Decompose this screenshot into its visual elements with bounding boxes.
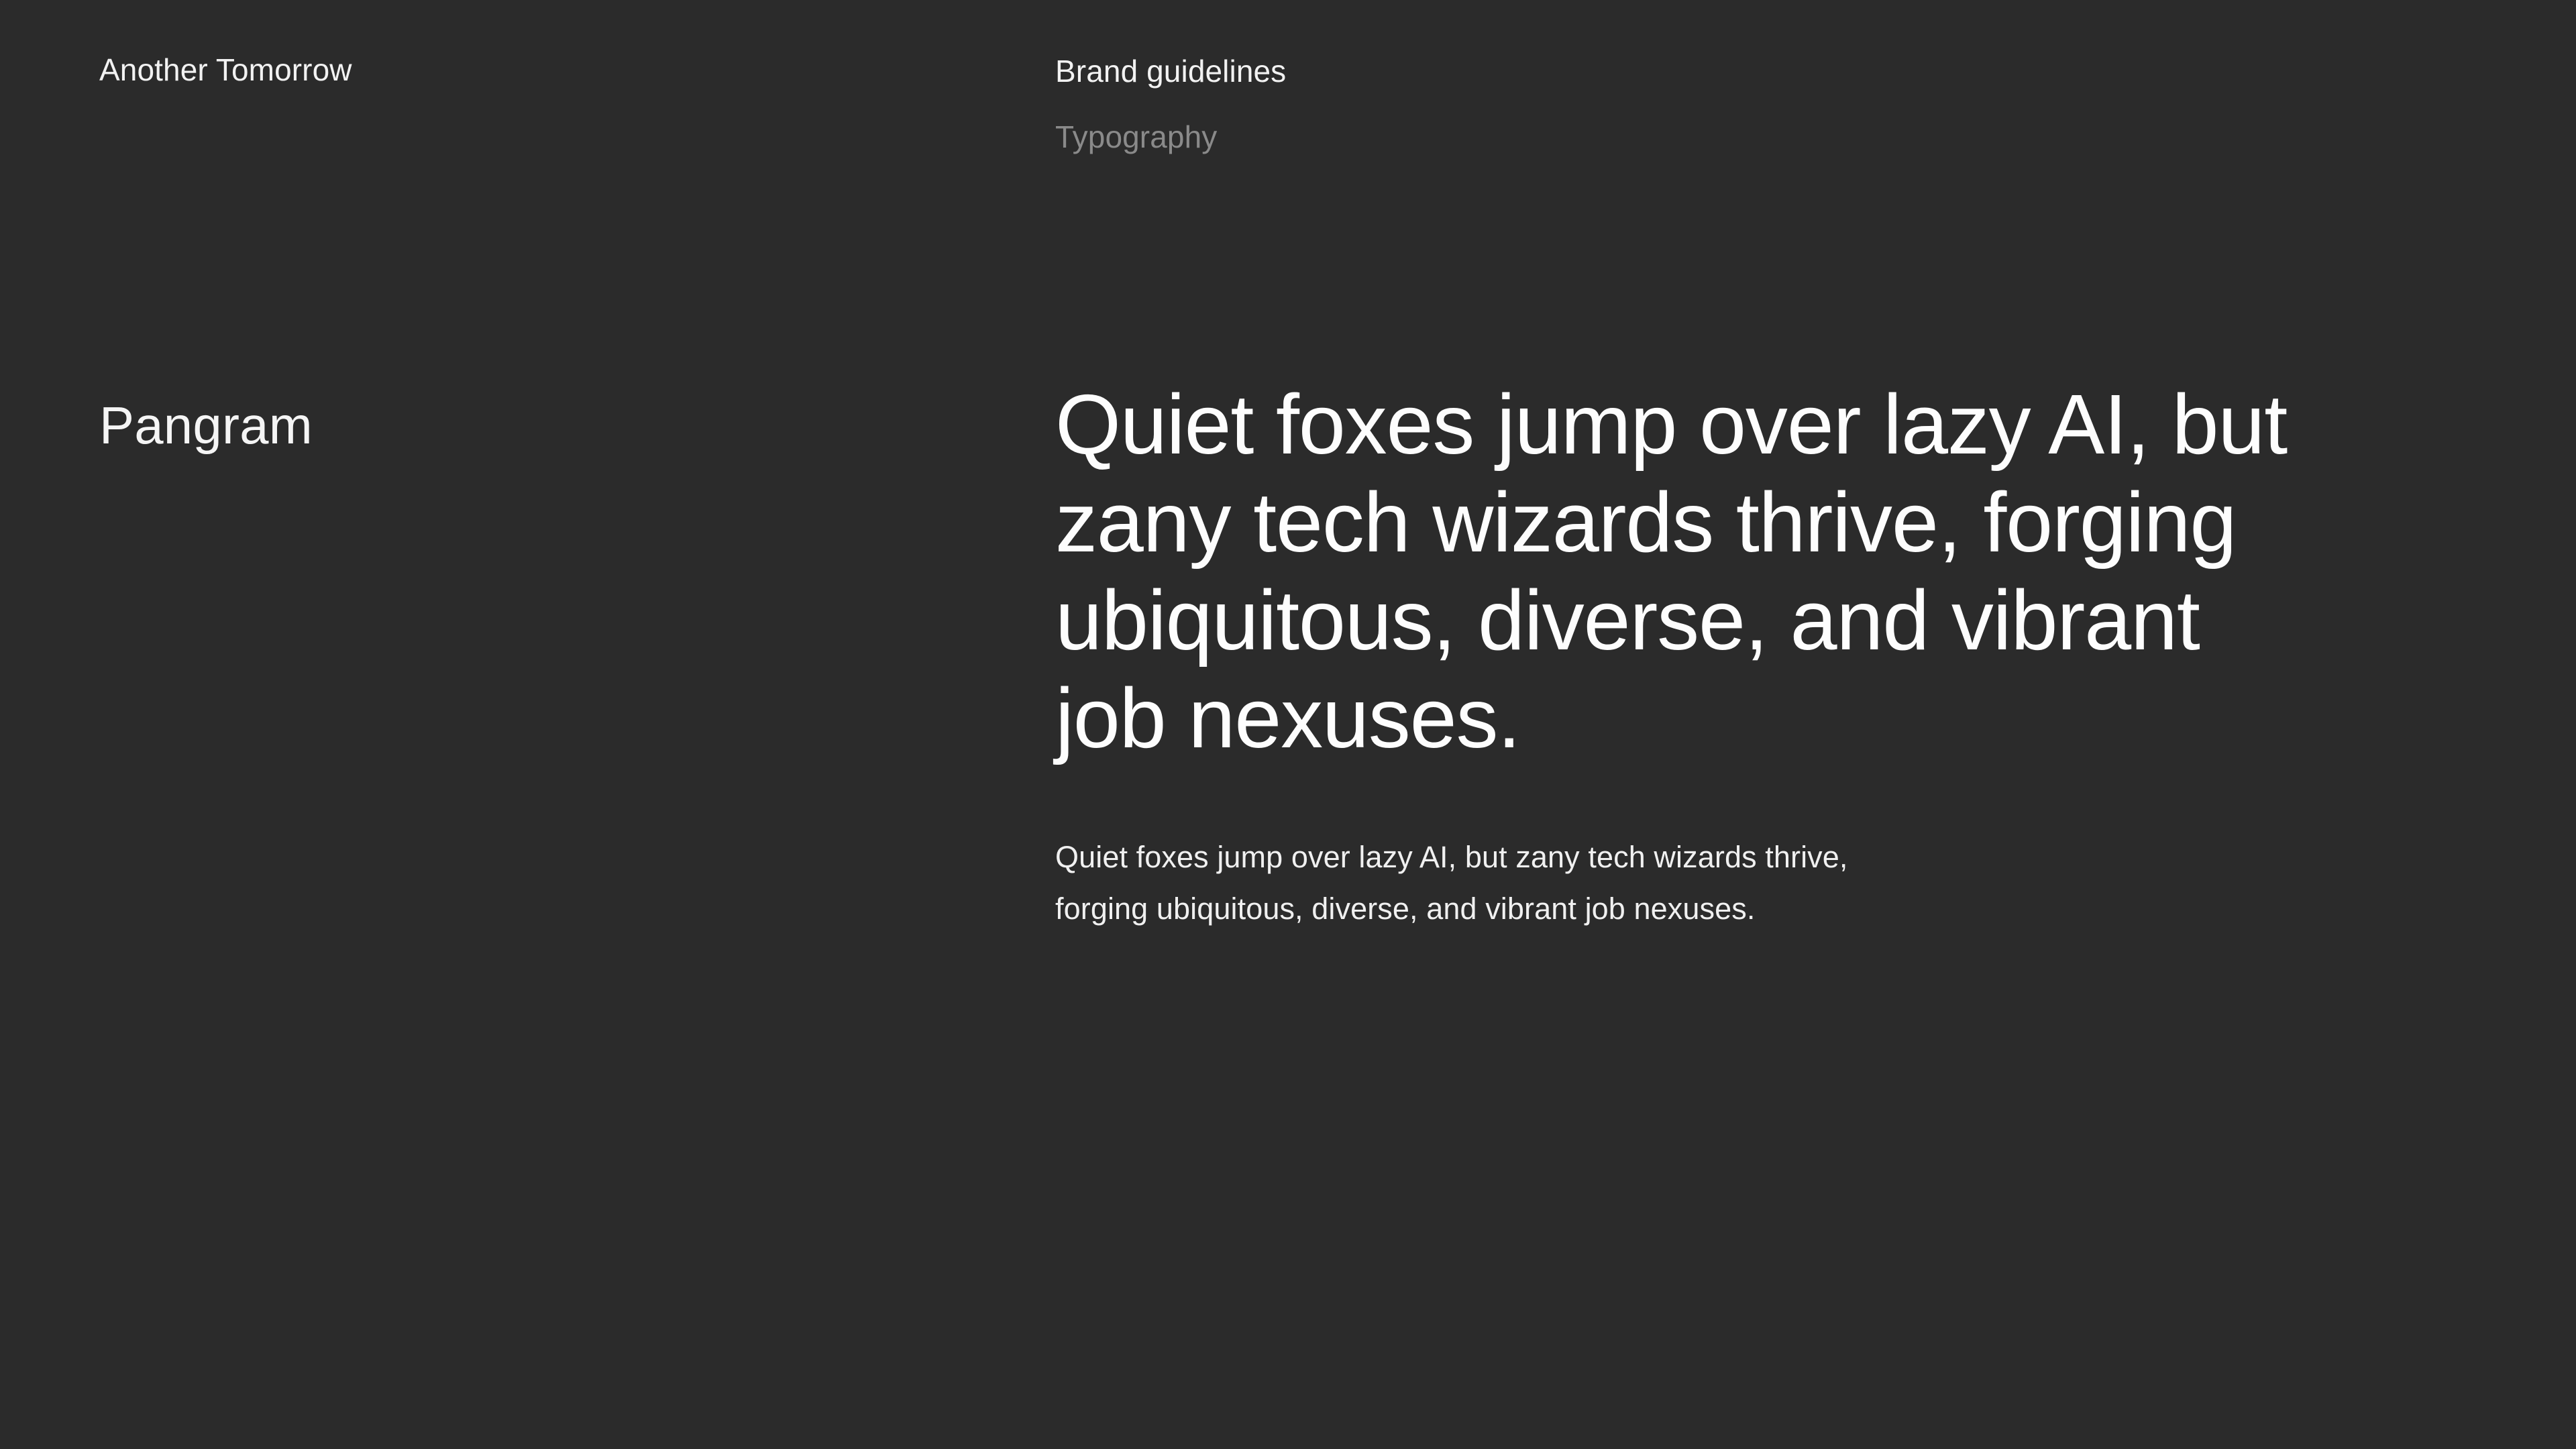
- brand-guidelines-page: Another Tomorrow Brand guidelines Typogr…: [0, 0, 2576, 1449]
- brand-wordmark: Another Tomorrow: [99, 52, 352, 88]
- pangram-body-text: Quiet foxes jump over lazy AI, but zany …: [1055, 831, 1941, 934]
- section-label: Typography: [1055, 118, 1994, 156]
- specimen-block-label: Pangram: [99, 394, 313, 456]
- document-title: Brand guidelines: [1055, 52, 1994, 90]
- pangram-display-text: Quiet foxes jump over lazy AI, but zany …: [1055, 376, 2316, 767]
- specimen-column: Quiet foxes jump over lazy AI, but zany …: [1055, 376, 2330, 934]
- document-meta: Brand guidelines Typography: [1055, 52, 1994, 156]
- page-header: Another Tomorrow Brand guidelines Typogr…: [0, 0, 2576, 215]
